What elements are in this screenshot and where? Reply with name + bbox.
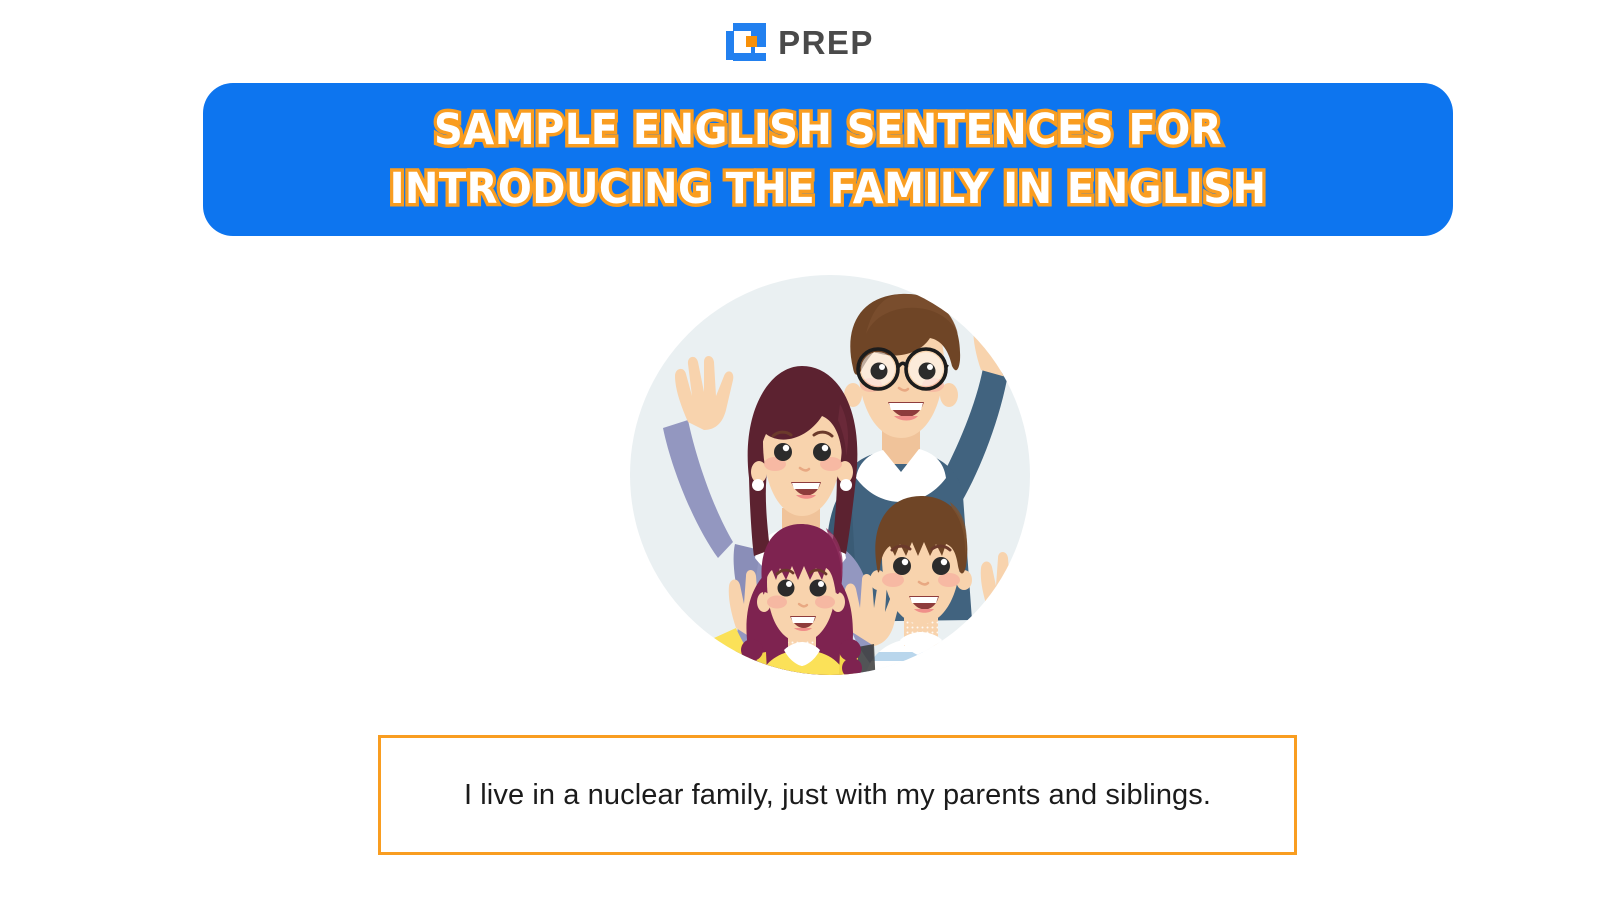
example-sentence-text: I live in a nuclear family, just with my… — [464, 779, 1211, 812]
logo-bottom-gap-shape — [755, 47, 766, 53]
example-sentence-box: I live in a nuclear family, just with my… — [378, 735, 1297, 855]
brand-header: PREP — [0, 0, 1600, 84]
logo-vertical-bar-shape — [726, 31, 734, 60]
title-banner: Sample English sentences for introducing… — [203, 83, 1453, 236]
shirt-cat-print — [780, 682, 822, 710]
prep-logo-mark-icon — [726, 22, 766, 62]
page-title: Sample English sentences for introducing… — [279, 101, 1376, 217]
brand-wordmark: PREP — [778, 26, 874, 59]
logo-orange-dot-shape — [746, 36, 757, 47]
family-illustration — [600, 250, 1060, 710]
